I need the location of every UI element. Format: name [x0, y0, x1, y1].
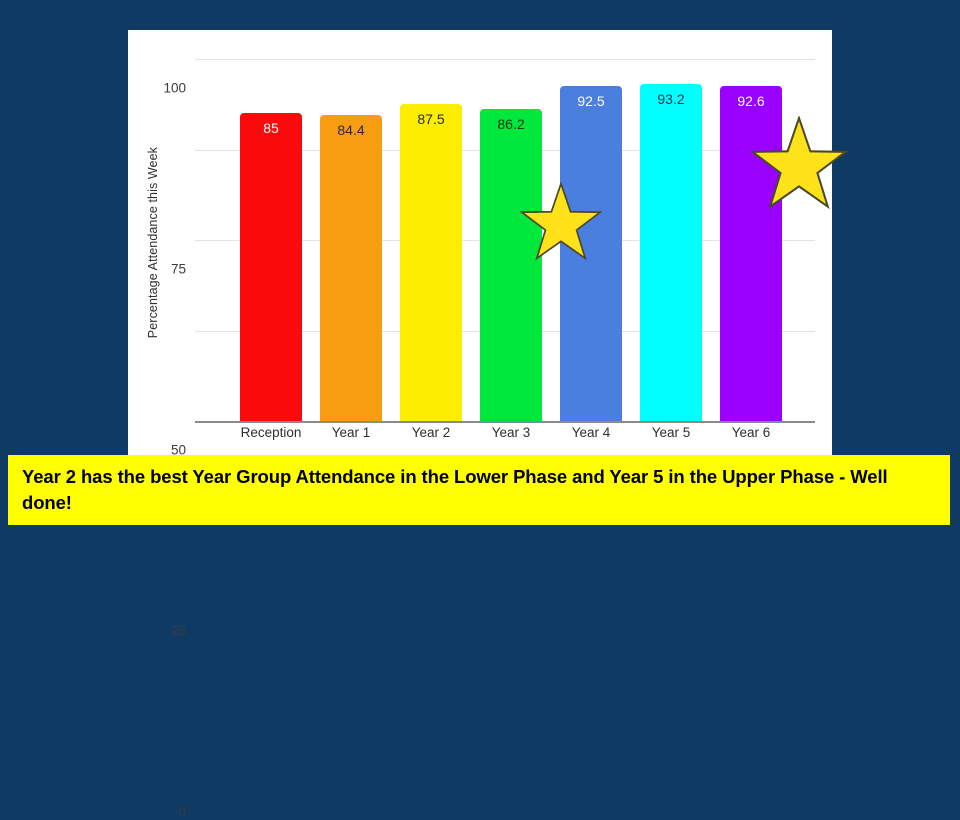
gridline-100: 100	[195, 59, 815, 60]
bar-value-label-year-5: 93.2	[640, 91, 702, 107]
plot-area: 025507510085Reception84.4Year 187.5Year …	[195, 30, 815, 455]
caption-banner: Year 2 has the best Year Group Attendanc…	[8, 455, 950, 525]
y-axis-label-text: Percentage Attendance this Week	[146, 147, 160, 338]
y-axis-label: Percentage Attendance this Week	[146, 30, 160, 455]
x-tick-label-year-3: Year 3	[466, 425, 556, 440]
bar-year-1[interactable]: 84.4	[320, 115, 382, 421]
bar-year-3[interactable]: 86.2	[480, 109, 542, 421]
bar-year-4[interactable]: 92.5	[560, 86, 622, 421]
bar-value-label-year-1: 84.4	[320, 122, 382, 138]
y-tick-label-75: 75	[171, 262, 186, 277]
x-tick-label-year-2: Year 2	[386, 425, 476, 440]
bar-value-label-reception: 85	[240, 120, 302, 136]
slide-background: Percentage Attendance this Week 02550751…	[0, 0, 960, 540]
caption-text: Year 2 has the best Year Group Attendanc…	[22, 466, 888, 513]
bar-year-2[interactable]: 87.5	[400, 104, 462, 421]
x-tick-label-year-1: Year 1	[306, 425, 396, 440]
bar-value-label-year-3: 86.2	[480, 116, 542, 132]
y-tick-label-0: 0	[178, 805, 186, 820]
bar-year-6[interactable]: 92.6	[720, 86, 782, 421]
bar-reception[interactable]: 85	[240, 113, 302, 421]
bar-value-label-year-4: 92.5	[560, 93, 622, 109]
chart-panel: Percentage Attendance this Week 02550751…	[128, 30, 832, 455]
bar-value-label-year-2: 87.5	[400, 111, 462, 127]
bar-year-5[interactable]: 93.2	[640, 84, 702, 421]
x-tick-label-year-6: Year 6	[706, 425, 796, 440]
x-axis-line: 0	[195, 421, 815, 423]
x-tick-label-reception: Reception	[226, 425, 316, 440]
x-tick-label-year-4: Year 4	[546, 425, 636, 440]
y-tick-label-100: 100	[163, 81, 186, 96]
bar-value-label-year-6: 92.6	[720, 93, 782, 109]
x-tick-label-year-5: Year 5	[626, 425, 716, 440]
y-tick-label-25: 25	[171, 624, 186, 639]
